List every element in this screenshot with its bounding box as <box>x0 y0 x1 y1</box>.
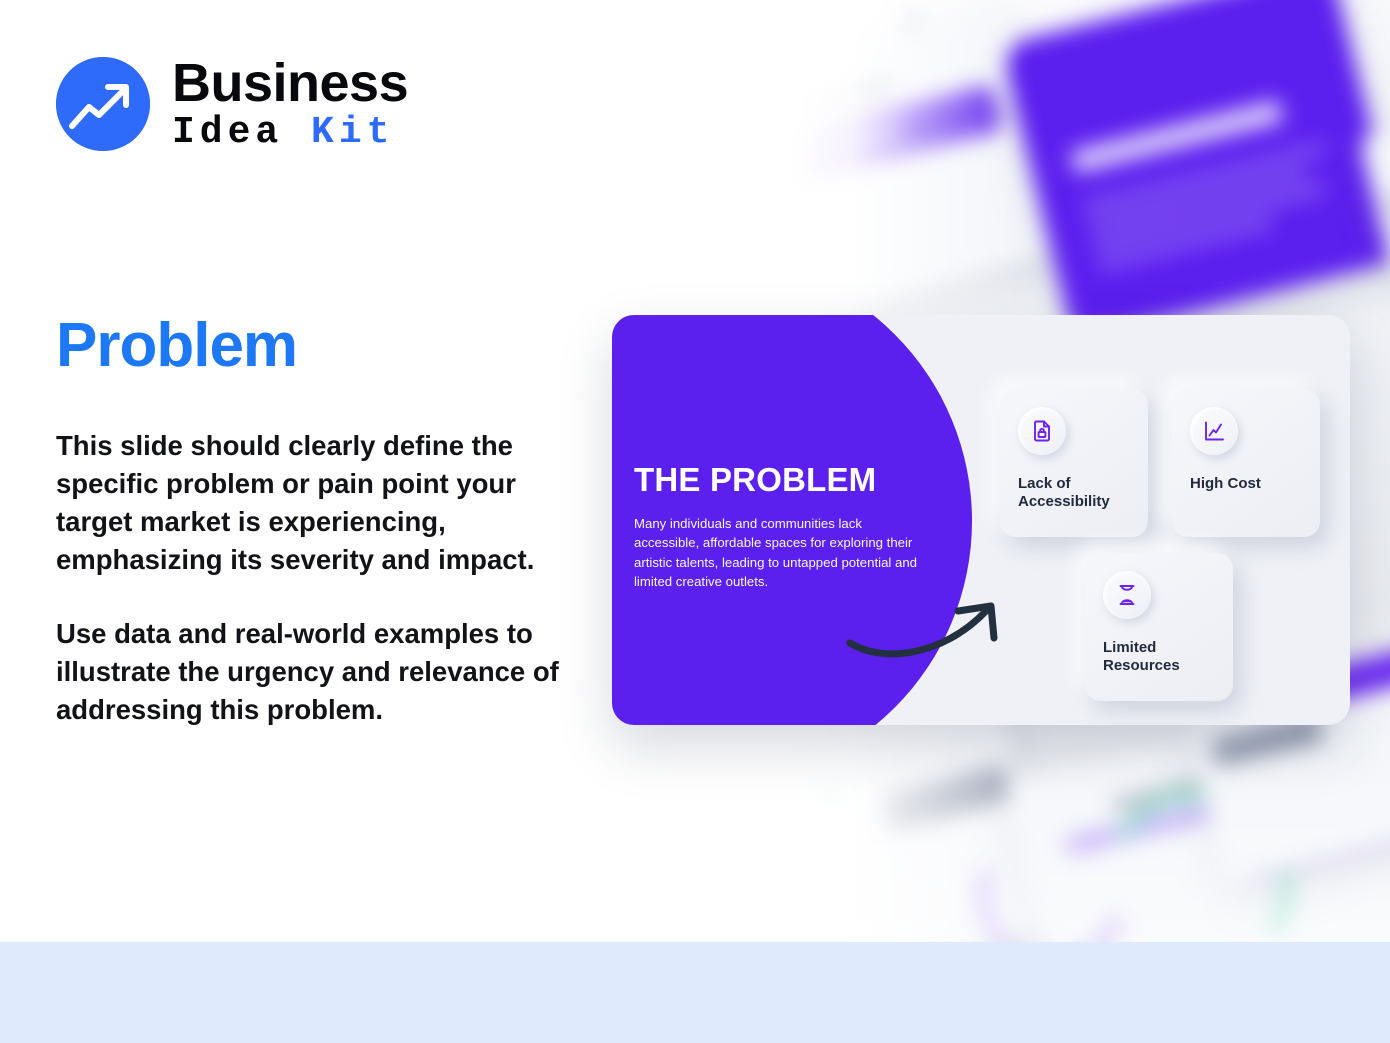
brand-name-primary: Business <box>172 56 408 110</box>
feature-label-line1: High Cost <box>1190 475 1261 492</box>
feature-card-limited-resources[interactable]: Limited Resources <box>1085 553 1233 701</box>
background-mockup-card-purple <box>1000 0 1390 342</box>
brand-name-kit: Kit <box>311 111 394 154</box>
hourglass-icon <box>1103 571 1151 619</box>
feature-card-lack-of-accessibility[interactable]: Lack of Accessibility <box>1000 389 1148 537</box>
feature-card-label: High Cost <box>1190 475 1302 493</box>
feature-card-label: Limited Resources <box>1103 639 1215 675</box>
feature-card-label: Lack of Accessibility <box>1018 475 1130 511</box>
feature-label-line2: Resources <box>1103 657 1180 674</box>
feature-card-high-cost[interactable]: High Cost <box>1172 389 1320 537</box>
feature-label-line1: Lack of <box>1018 475 1071 492</box>
slide-preview-card[interactable]: THE PROBLEM Many individuals and communi… <box>612 315 1350 725</box>
body-paragraph-1: This slide should clearly define the spe… <box>56 427 566 579</box>
page-title: Problem <box>56 310 564 381</box>
slide-body-text: Many individuals and communities lack ac… <box>634 514 926 592</box>
growth-arrow-circle-icon <box>56 57 150 151</box>
left-content-panel: Business Idea Kit Problem This slide sho… <box>0 0 620 942</box>
slide-text-block: THE PROBLEM Many individuals and communi… <box>634 463 944 592</box>
body-paragraph-2: Use data and real-world examples to illu… <box>56 615 566 729</box>
curved-arrow-up-right-icon <box>846 591 1016 661</box>
document-lock-icon <box>1018 407 1066 455</box>
feature-label-line1: Limited <box>1103 639 1156 656</box>
page-root: Business Idea Kit Problem This slide sho… <box>0 0 1390 1043</box>
page-body-copy: This slide should clearly define the spe… <box>56 427 566 729</box>
line-chart-icon <box>1190 407 1238 455</box>
brand-logo[interactable]: Business Idea Kit <box>56 56 564 152</box>
brand-name-secondary: Idea Kit <box>172 114 408 152</box>
feature-label-line2: Accessibility <box>1018 493 1110 510</box>
brand-wordmark: Business Idea Kit <box>172 56 408 152</box>
brand-name-idea: Idea <box>172 111 283 154</box>
slide-heading: THE PROBLEM <box>634 463 944 498</box>
bottom-color-band <box>0 942 1390 1043</box>
